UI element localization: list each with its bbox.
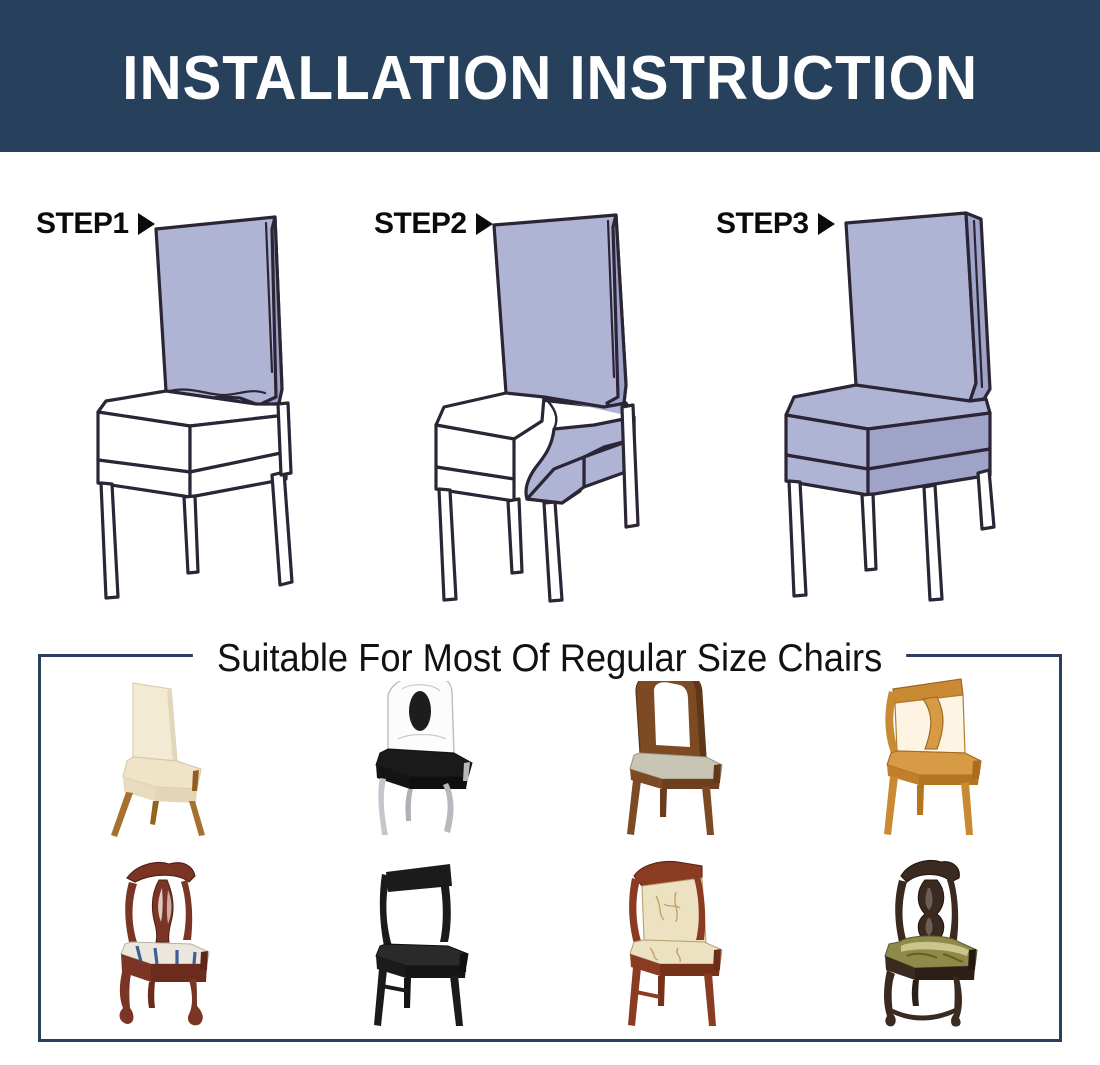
mahogany-chippendale-chair-icon <box>93 856 243 1031</box>
walnut-keyhole-back-chair-icon <box>602 665 752 840</box>
chair-thumbnail-cherry-floral-chair: Cherry wood chair with cream floral upho… <box>550 848 805 1039</box>
chair-thumbnail-mahogany-chippendale-chair: Carved mahogany Chippendale chair with b… <box>41 848 296 1039</box>
antique-carved-tapestry-chair-icon <box>857 856 1007 1031</box>
step-2-chair-illustration <box>394 207 694 607</box>
chair-thumbnail-antique-carved-tapestry-chair: Dark carved antique chair with tapestry … <box>805 848 1060 1039</box>
chair-thumbnail-black-slat-back-chair: Plain black wooden chair with horizontal… <box>296 848 551 1039</box>
chair-thumbnail-cream-upholstered-chair: Cream upholstered parsons chair with spl… <box>41 657 296 848</box>
header-banner: INSTALLATION INSTRUCTION <box>0 0 1100 152</box>
step-3-chair-illustration <box>738 207 1038 607</box>
step-1-chair-illustration <box>60 207 350 607</box>
golden-oak-splat-chair-icon <box>857 665 1007 840</box>
black-slat-back-chair-icon <box>348 856 498 1031</box>
steps-row: STEP1 <box>0 152 1100 622</box>
chair-thumbnail-silver-baroque-chair: Ornate silver baroque chair with black l… <box>296 657 551 848</box>
step-1: STEP1 <box>10 152 370 622</box>
cherry-floral-chair-icon <box>602 856 752 1031</box>
suitable-chairs-grid: Cream upholstered parsons chair with spl… <box>41 657 1059 1039</box>
page-title: INSTALLATION INSTRUCTION <box>122 48 978 110</box>
chair-thumbnail-golden-oak-splat-chair: Golden oak chair with hourglass splat ba… <box>805 657 1060 848</box>
installation-instruction-page: INSTALLATION INSTRUCTION STEP1 <box>0 0 1100 1065</box>
silver-baroque-chair-icon <box>348 665 498 840</box>
chair-thumbnail-walnut-keyhole-back-chair: Dark walnut chair with keyhole cutout ba… <box>550 657 805 848</box>
step-3: STEP3 <box>690 152 1050 622</box>
step-2: STEP2 <box>350 152 710 622</box>
cream-upholstered-chair-icon <box>93 665 243 840</box>
